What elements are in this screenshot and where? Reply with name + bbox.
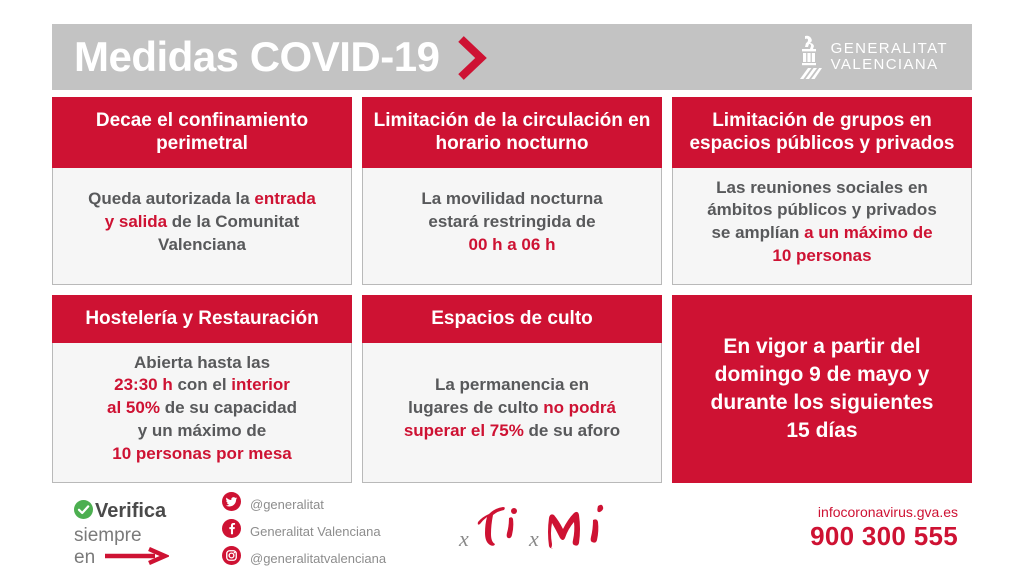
measure-card-3: Limitación de grupos en espacios público… — [672, 97, 972, 285]
verify-word-verifica: Verifica — [95, 500, 166, 523]
measure-card-1: Decae el confinamiento perimetral Queda … — [52, 97, 352, 285]
measure-card-4: Hostelería y Restauración Abierta hasta … — [52, 295, 352, 483]
measure-card-body: Las reuniones sociales enámbitos público… — [672, 168, 972, 285]
verify-line-1: Verifica — [74, 498, 169, 525]
covid-measures-poster: Medidas COVID-19 — [0, 0, 1024, 576]
verify-block: Verifica siempre en — [74, 498, 169, 570]
header-band: Medidas COVID-19 — [52, 24, 972, 90]
measure-card-body: Queda autorizada la entraday salida de l… — [52, 168, 352, 285]
measure-card-text: Las reuniones sociales enámbitos público… — [707, 177, 937, 268]
measure-card-title: Espacios de culto — [362, 295, 662, 343]
campaign-x-2: x — [528, 526, 539, 551]
measure-card-6-validity: En vigor a partir deldomingo 9 de mayo y… — [672, 295, 972, 483]
social-link-facebook[interactable]: Generalitat Valenciana — [222, 521, 386, 541]
x-ti-x-mi-logo: x x — [457, 500, 647, 564]
measure-card-title: Limitación de la circulación en horario … — [362, 97, 662, 168]
social-link-instagram[interactable]: @generalitatvalenciana — [222, 548, 386, 568]
validity-text: En vigor a partir deldomingo 9 de mayo y… — [711, 333, 934, 445]
measure-card-text: Abierta hasta las23:30 h con el interior… — [107, 352, 297, 466]
measure-card-body: Abierta hasta las23:30 h con el interior… — [52, 343, 352, 483]
campaign-x-1: x — [458, 526, 469, 551]
measure-card-text: Queda autorizada la entraday salida de l… — [88, 188, 316, 256]
verify-word-siempre: siempre — [74, 525, 169, 547]
logo-line-1: GENERALITAT — [831, 41, 948, 57]
contact-website[interactable]: infocoronavirus.gva.es — [810, 504, 958, 521]
social-label: @generalitat — [250, 497, 324, 512]
header-left-group: Medidas COVID-19 — [74, 33, 489, 81]
measure-card-5: Espacios de culto La permanencia enlugar… — [362, 295, 662, 483]
verify-line-3: en — [74, 547, 169, 571]
social-link-twitter[interactable]: @generalitat — [222, 494, 386, 514]
contact-block: infocoronavirus.gva.es 900 300 555 — [810, 504, 958, 550]
measure-card-title: Limitación de grupos en espacios público… — [672, 97, 972, 168]
measure-card-text: La movilidad nocturnaestará restringida … — [421, 188, 602, 256]
arrow-right-icon — [103, 547, 169, 571]
logo-line-2: VALENCIANA — [831, 57, 948, 73]
measure-card-2: Limitación de la circulación en horario … — [362, 97, 662, 285]
social-label: Generalitat Valenciana — [250, 524, 381, 539]
facebook-icon — [222, 519, 241, 543]
measure-card-body: La permanencia enlugares de culto no pod… — [362, 343, 662, 483]
twitter-icon — [222, 492, 241, 516]
instagram-icon — [222, 546, 241, 570]
measures-grid: Decae el confinamiento perimetral Queda … — [52, 97, 972, 483]
measure-card-title: Decae el confinamiento perimetral — [52, 97, 352, 168]
verify-word-en: en — [74, 547, 95, 569]
green-check-circle-icon — [74, 500, 93, 525]
contact-phone[interactable]: 900 300 555 — [810, 523, 958, 550]
measure-card-text: La permanencia enlugares de culto no pod… — [404, 374, 620, 442]
logo-wordmark: GENERALITAT VALENCIANA — [831, 41, 948, 73]
measure-card-body: La movilidad nocturnaestará restringida … — [362, 168, 662, 285]
chevron-right-icon — [455, 35, 489, 81]
social-label: @generalitatvalenciana — [250, 551, 386, 566]
measure-card-title: Hostelería y Restauración — [52, 295, 352, 343]
generalitat-valenciana-crest-icon — [796, 35, 822, 79]
generalitat-valenciana-logo: GENERALITAT VALENCIANA — [796, 35, 954, 79]
social-links: @generalitat Generalitat Valenciana — [222, 494, 386, 568]
footer: Verifica siempre en — [52, 492, 972, 572]
verify-words: Verifica siempre en — [74, 498, 169, 570]
page-title: Medidas COVID-19 — [74, 36, 439, 78]
